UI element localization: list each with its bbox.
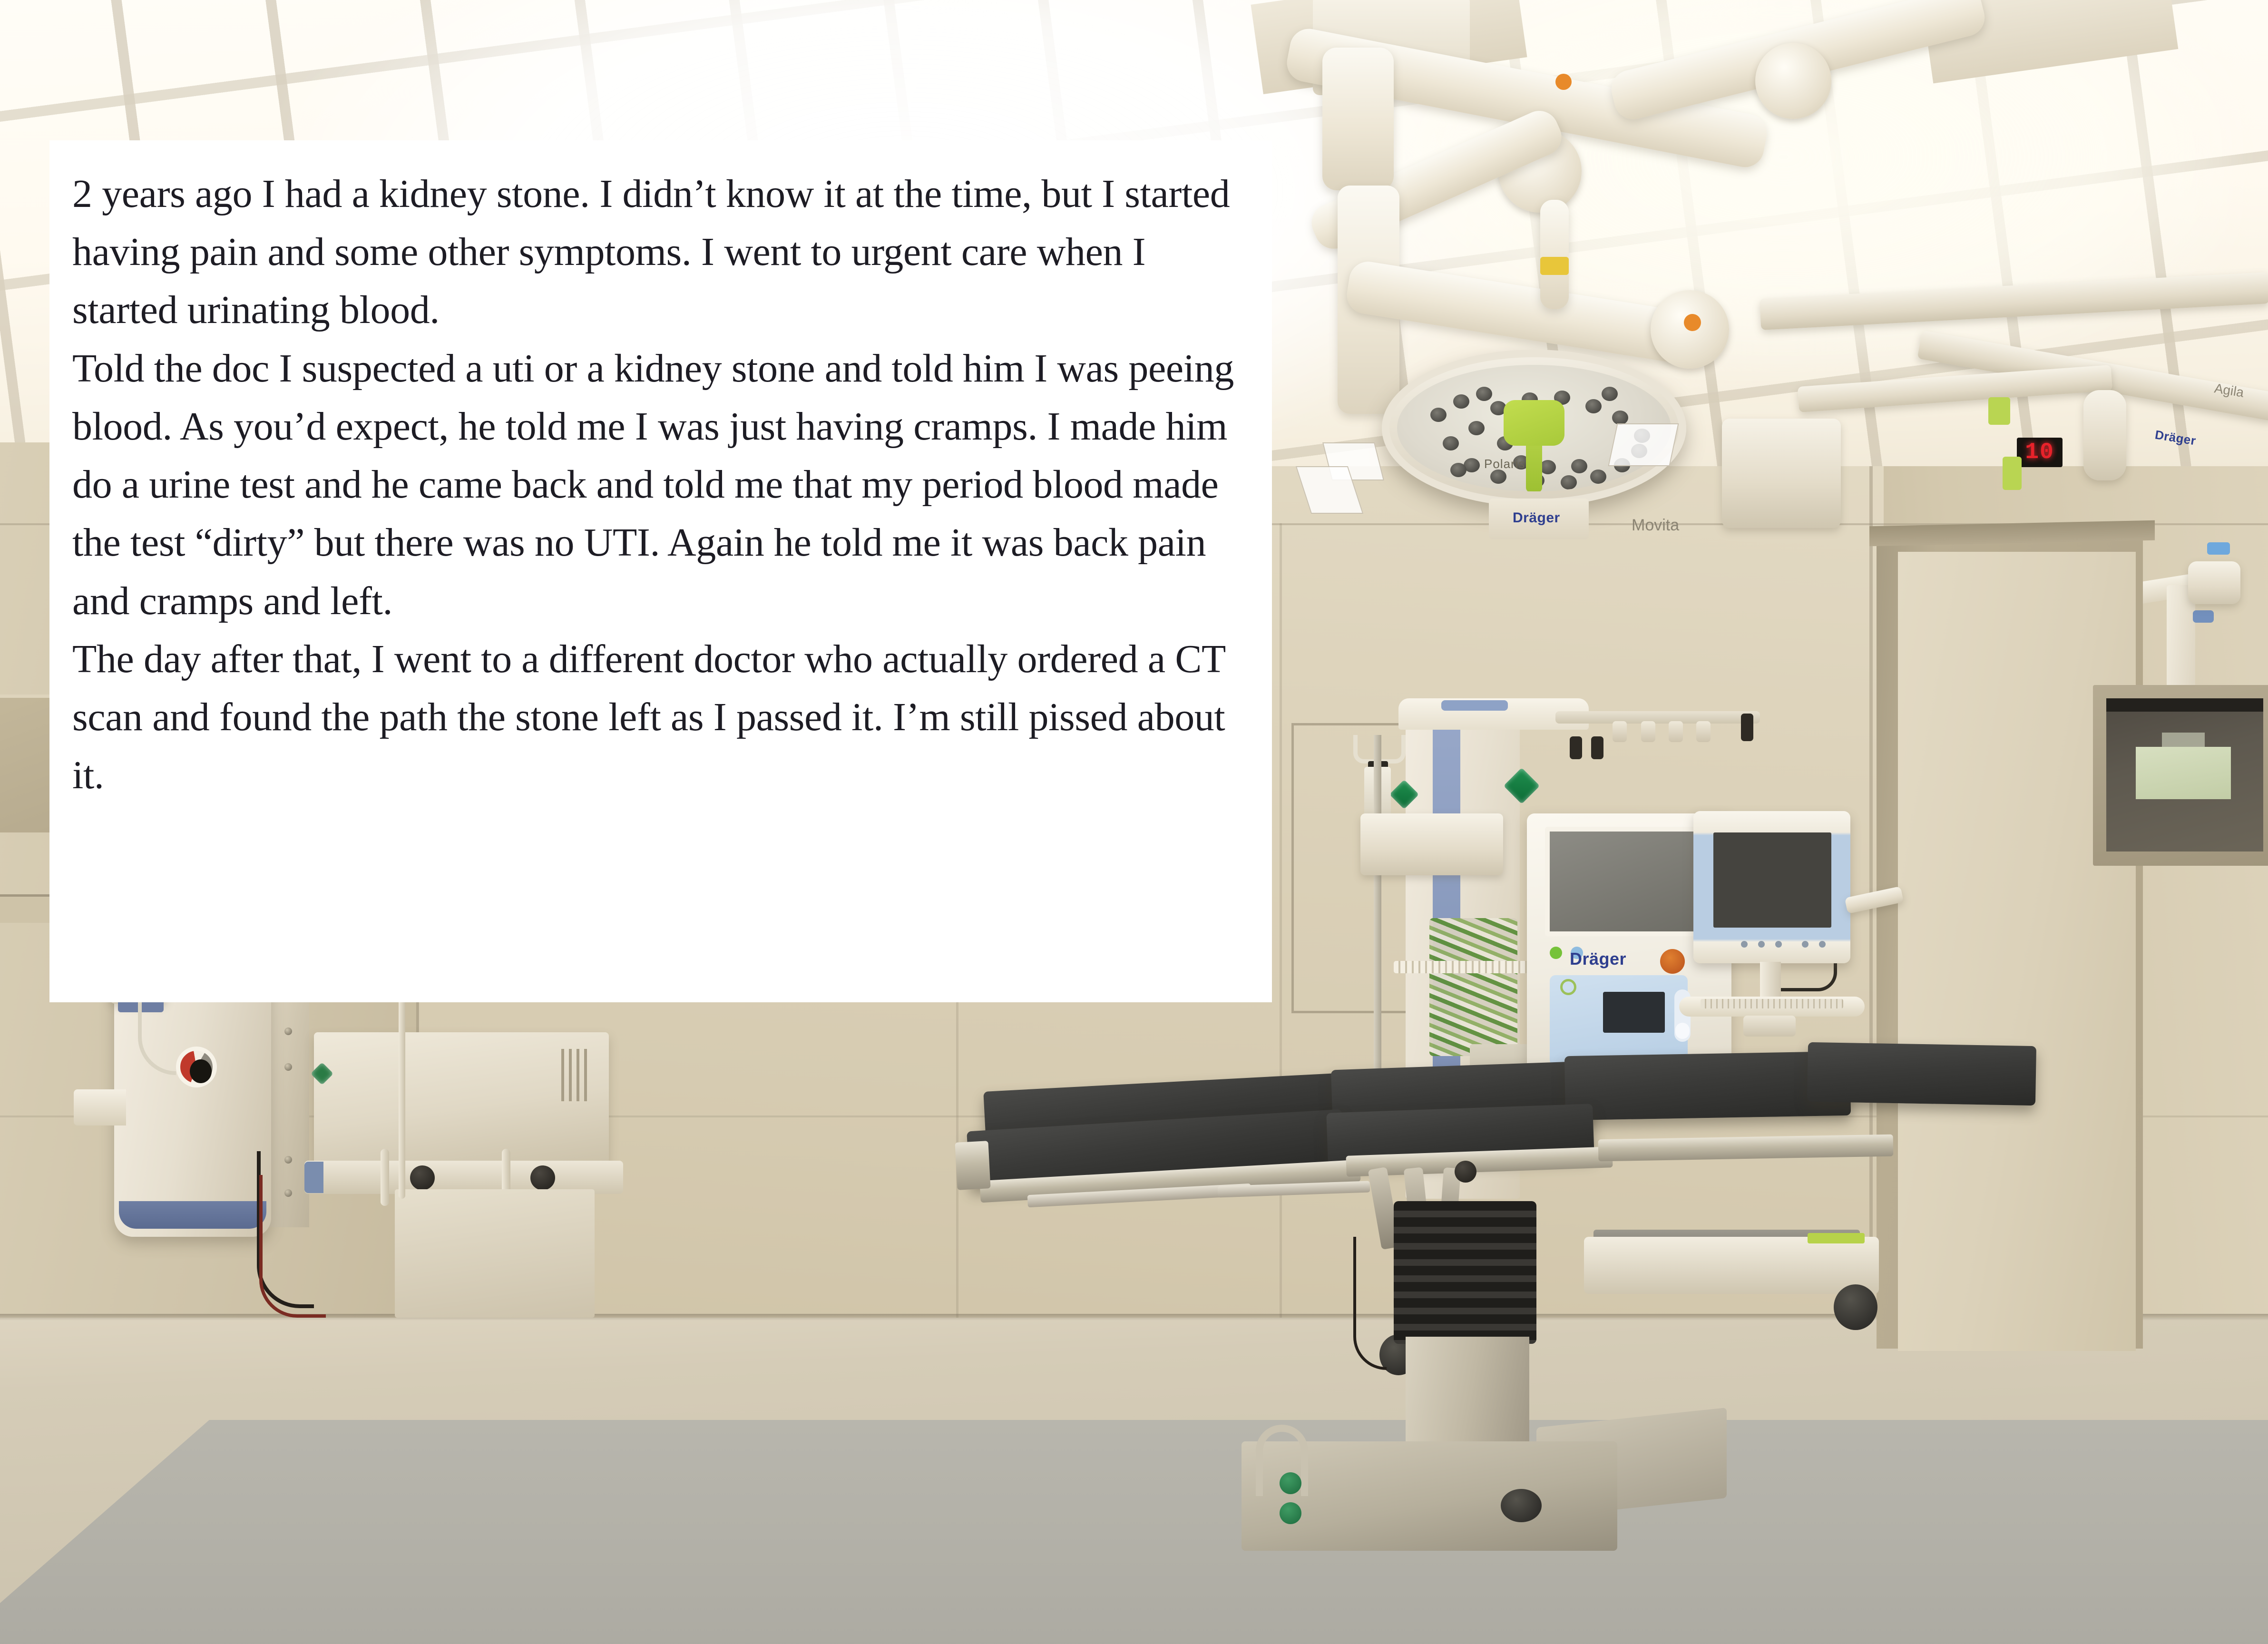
light-yellow-band: [1540, 257, 1569, 275]
wall-seam-3: [1280, 523, 1282, 1322]
cable-bundle: [1429, 918, 1517, 1056]
anesthesia-seal-badge: [1660, 949, 1685, 974]
drager-logo-anesthesia: Dräger: [1570, 949, 1626, 969]
ventilator-screen: [1603, 992, 1665, 1033]
drager-logo-light: Dräger: [1513, 510, 1560, 526]
polaris-model-label: Polaris: [1484, 457, 1525, 471]
right-pendant-blue-cap-2: [2193, 610, 2214, 623]
light-joint-far[interactable]: [1755, 43, 1831, 119]
imaging-knob-1[interactable]: [410, 1165, 435, 1190]
gas-outlet-rail: [1555, 711, 1760, 724]
imaging-lower-panel: [395, 1189, 595, 1318]
imaging-knob-2[interactable]: [530, 1165, 555, 1190]
ceiling-rail-led-display: 10: [2017, 438, 2063, 467]
operating-room-screenshot: Dräger Polaris Movita 10 Dräger Agila: [0, 0, 2268, 1644]
imaging-cable-red: [259, 1175, 326, 1318]
table-pad-foot: [1807, 1042, 2036, 1106]
imaging-vent-grille: [561, 1049, 590, 1101]
overlay-paragraph-1: 2 years ago I had a kidney stone. I didn…: [72, 165, 1240, 340]
table-foot-pedal-1[interactable]: [1280, 1472, 1301, 1494]
gas-clamp-2: [1591, 736, 1603, 759]
monitor-cable: [1780, 960, 1837, 991]
right-pendant-head: [2188, 561, 2240, 604]
gas-knob-3[interactable]: [1669, 721, 1683, 742]
imaging-vertical-rod: [399, 994, 405, 1199]
light-indicator-orange-2: [1684, 314, 1701, 331]
overlay-paragraph-2: Told the doc I suspected a uti or a kidn…: [72, 340, 1240, 630]
gas-knob-4[interactable]: [1696, 721, 1711, 742]
door-leaf[interactable]: [1898, 552, 2136, 1351]
side-trolley-green-tag: [1808, 1233, 1865, 1243]
anesthesia-power-led: [1550, 947, 1562, 959]
imaging-nozzle: [74, 1089, 126, 1125]
wall-monitor-screen[interactable]: [1713, 832, 1831, 928]
table-power-cable: [1353, 1237, 1387, 1370]
monitor-power-button[interactable]: [1819, 941, 1826, 948]
monitor-keyboard[interactable]: [1701, 999, 1843, 1008]
observation-window-blind: [2106, 698, 2263, 712]
sterile-cover-right: [1608, 423, 1679, 466]
anesthesia-monitor-screen[interactable]: [1545, 827, 1707, 936]
monitor-button-2[interactable]: [1758, 941, 1765, 948]
gas-knob-2[interactable]: [1641, 721, 1655, 742]
rail-green-cover-2: [2003, 457, 2022, 490]
gas-clamp-1: [1570, 736, 1582, 759]
ventilator-dial[interactable]: [1560, 979, 1576, 995]
imaging-lens: [176, 1047, 217, 1087]
ceiling-rail-joint[interactable]: [2083, 390, 2126, 480]
right-pendant-indicator: [2207, 542, 2230, 555]
side-trolley: [1584, 1237, 1879, 1294]
overlay-paragraph-3: The day after that, I went to a differen…: [72, 630, 1240, 805]
trolley-caster-right: [1834, 1284, 1877, 1330]
floor-inner-zone: [0, 1420, 2268, 1644]
table-pivot-knob[interactable]: [1455, 1161, 1476, 1183]
story-text-overlay: 2 years ago I had a kidney stone. I didn…: [49, 140, 1272, 1002]
gas-knob-1[interactable]: [1613, 721, 1627, 742]
table-foot-pedal-2[interactable]: [1280, 1502, 1301, 1524]
table-end-cap: [955, 1141, 990, 1190]
light-indicator-orange-1: [1555, 74, 1572, 90]
light-hanging-stem: [1540, 200, 1569, 309]
movita-arm-label: Movita: [1632, 516, 1679, 535]
monitor-button-4[interactable]: [1802, 941, 1809, 948]
imaging-post-1: [381, 1149, 389, 1206]
observation-window-reflection: [2136, 747, 2231, 799]
monitor-stem: [1760, 962, 1781, 1001]
rail-green-cover-1: [1988, 397, 2010, 425]
surgical-light-sterile-handle[interactable]: [1504, 400, 1564, 446]
monitor-button-3[interactable]: [1775, 941, 1782, 948]
imaging-column-accent: [119, 1201, 266, 1229]
monitor-button-1[interactable]: [1741, 941, 1748, 948]
table-base-caster: [1501, 1489, 1542, 1522]
gas-endstop: [1741, 714, 1753, 741]
table-column-bellows: [1394, 1201, 1536, 1344]
monitor-tray-foot: [1743, 1016, 1796, 1037]
equipment-column-cap-blue: [1441, 700, 1508, 711]
iv-pole: [1374, 735, 1381, 1096]
equipment-side-shelf: [1360, 813, 1503, 875]
pendant-body-right: [1722, 419, 1841, 528]
light-column-left: [1322, 48, 1394, 190]
